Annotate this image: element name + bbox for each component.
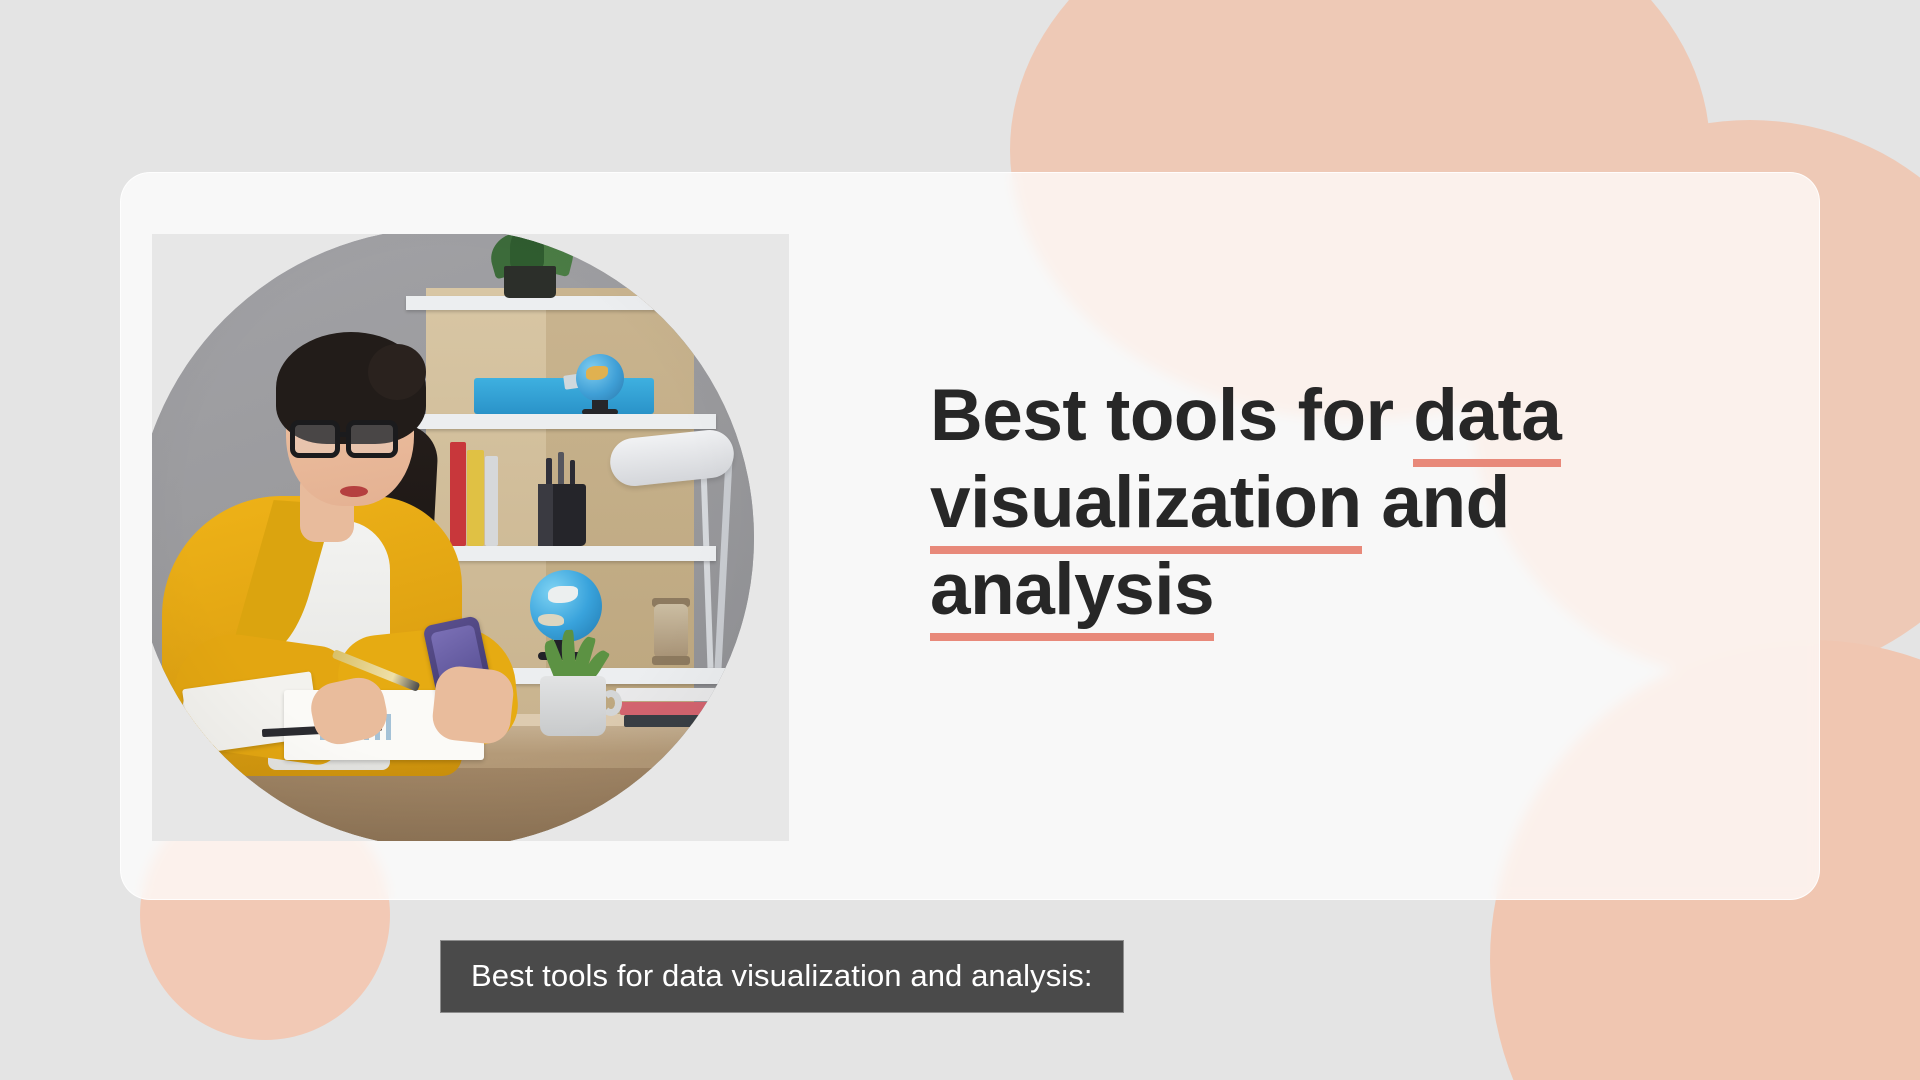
heading-line-3: analysis <box>930 547 1710 634</box>
heading-underlined-data: data <box>1413 373 1561 460</box>
heading-line-2-plain: and <box>1362 462 1510 543</box>
heading-underlined-visualization: visualization <box>930 460 1362 547</box>
profile-photo <box>152 234 754 841</box>
heading-line-2: visualization and <box>930 460 1710 547</box>
photo-frame <box>152 234 789 841</box>
heading-line-1-plain: Best tools for <box>930 375 1413 456</box>
page-title: Best tools for data visualization and an… <box>930 373 1710 634</box>
slide-canvas: Best tools for data visualization and an… <box>0 0 1920 1080</box>
photo-vignette <box>152 234 754 841</box>
heading-underlined-analysis: analysis <box>930 547 1214 634</box>
caption-text: Best tools for data visualization and an… <box>471 960 1093 991</box>
heading-line-1: Best tools for data <box>930 373 1710 460</box>
caption-bar: Best tools for data visualization and an… <box>440 940 1124 1013</box>
